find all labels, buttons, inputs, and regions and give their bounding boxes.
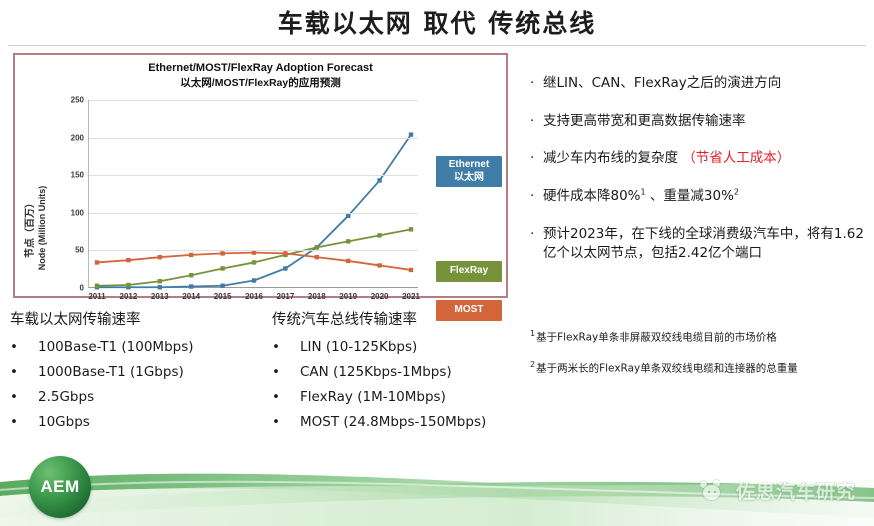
chart-point: [409, 268, 413, 272]
chart-y-tick: 250: [71, 96, 84, 105]
column-ethernet-speeds: 车载以太网传输速率 •100Base-T1 (100Mbps)•1000Base…: [10, 308, 260, 439]
chart-point: [126, 258, 130, 262]
footnote-text: 基于两米长的FlexRay单条双绞线电缆和连接器的总重量: [536, 363, 798, 375]
chart-point: [220, 284, 224, 288]
key-point-text: 硬件成本降80%1 、重量减30%2: [543, 187, 870, 207]
list-item-label: CAN (125Kbps-1Mbps): [300, 364, 452, 380]
page-title: 车载以太网 取代 传统总线: [0, 4, 874, 40]
chart-x-tick: 2016: [245, 292, 263, 301]
chart-point: [315, 255, 319, 259]
chart-gridline: [89, 213, 418, 214]
key-point-highlight: （节省人工成本）: [682, 150, 790, 166]
key-point-3: ·减少车内布线的复杂度 （节省人工成本）: [530, 149, 870, 169]
chart-point: [189, 284, 193, 288]
chart-point: [346, 214, 350, 218]
key-points-list: ·继LIN、CAN、FlexRay之后的演进方向·支持更高带宽和更高数据传输速率…: [530, 74, 870, 282]
y-axis-label-cn: 节点（百万）: [25, 198, 36, 258]
bullet-dot-icon: •: [10, 364, 38, 380]
column-ethernet-items: •100Base-T1 (100Mbps)•1000Base-T1 (1Gbps…: [10, 339, 260, 430]
list-item: •10Gbps: [10, 414, 260, 430]
list-item: •1000Base-T1 (1Gbps): [10, 364, 260, 380]
chart-point: [409, 227, 413, 231]
column-legacy-bus-speeds: 传统汽车总线传输速率 •LIN (10-125Kbps)•CAN (125Kbp…: [272, 308, 532, 439]
aem-logo: AEM: [29, 456, 91, 518]
list-item: •LIN (10-125Kbps): [272, 339, 532, 355]
chart-x-tick: 2012: [119, 292, 137, 301]
legend-ethernet-cn: 以太网: [442, 172, 496, 185]
chart-gridline: [89, 100, 418, 101]
list-item-label: FlexRay (1M-10Mbps): [300, 389, 446, 405]
list-item: •CAN (125Kbps-1Mbps): [272, 364, 532, 380]
chart-point: [158, 285, 162, 289]
bullet-dot-icon: ·: [530, 74, 543, 94]
chart-gridline: [89, 250, 418, 251]
list-item: •MOST (24.8Mbps-150Mbps): [272, 414, 532, 430]
key-point-text: 预计2023年，在下线的全球消费级汽车中，将有1.62亿个以太网节点，包括2.4…: [543, 225, 870, 264]
key-point-4: ·硬件成本降80%1 、重量减30%2: [530, 187, 870, 207]
list-item: •2.5Gbps: [10, 389, 260, 405]
bullet-dot-icon: ·: [530, 112, 543, 132]
chart-y-tick: 50: [75, 246, 84, 255]
list-item-label: 100Base-T1 (100Mbps): [38, 339, 194, 355]
aem-logo-text: AEM: [40, 477, 79, 497]
footnote-ref-1: 1: [641, 188, 646, 197]
list-item-label: 10Gbps: [38, 414, 90, 430]
bullet-dot-icon: ·: [530, 149, 543, 169]
footnote-text: 基于FlexRay单条非屏蔽双绞线电缆目前的市场价格: [536, 332, 777, 344]
footnote-ref-2: 2: [734, 188, 739, 197]
chart-point: [283, 251, 287, 255]
list-item: •FlexRay (1M-10Mbps): [272, 389, 532, 405]
chart-point: [252, 260, 256, 264]
chart-plot-area: 0501001502002502011201220132014201520162…: [88, 100, 418, 288]
column-ethernet-heading: 车载以太网传输速率: [10, 308, 260, 329]
chart-gridline: [89, 138, 418, 139]
chart-title-en: Ethernet/MOST/FlexRay Adoption Forecast: [15, 61, 506, 76]
chart-point: [220, 266, 224, 270]
chart-title-cn: 以太网/MOST/FlexRay的应用预测: [15, 76, 506, 90]
list-item-label: 2.5Gbps: [38, 389, 94, 405]
key-point-text: 支持更高带宽和更高数据传输速率: [543, 112, 870, 132]
legend-ethernet-en: Ethernet: [442, 159, 496, 172]
chart-point: [409, 132, 413, 136]
bullet-dot-icon: •: [10, 339, 38, 355]
bullet-dot-icon: •: [272, 414, 300, 430]
chart-point: [252, 278, 256, 282]
y-axis-label-en: Node (Million Units): [37, 186, 47, 271]
chart-x-tick: 2011: [88, 292, 105, 301]
chart-y-tick: 0: [80, 284, 84, 293]
chart-card: Ethernet/MOST/FlexRay Adoption Forecast …: [13, 53, 508, 298]
chart-gridline: [89, 175, 418, 176]
chart-x-tick: 2019: [339, 292, 357, 301]
list-item: •100Base-T1 (100Mbps): [10, 339, 260, 355]
chart-x-tick: 2018: [308, 292, 326, 301]
chart-y-tick: 100: [71, 208, 84, 217]
chart-point: [377, 263, 381, 267]
bullet-dot-icon: •: [272, 364, 300, 380]
chart-point: [315, 245, 319, 249]
chart-point: [346, 259, 350, 263]
chart-point: [220, 251, 224, 255]
title-divider: [8, 45, 866, 46]
key-point-text: 减少车内布线的复杂度 （节省人工成本）: [543, 149, 870, 169]
chart-point: [346, 239, 350, 243]
list-item-label: 1000Base-T1 (1Gbps): [38, 364, 184, 380]
list-item-label: LIN (10-125Kbps): [300, 339, 417, 355]
chart-point: [283, 266, 287, 270]
footnotes-list: 1基于FlexRay单条非屏蔽双绞线电缆目前的市场价格2基于两米长的FlexRa…: [530, 328, 874, 390]
chart-x-tick: 2020: [371, 292, 389, 301]
chart-point: [377, 233, 381, 237]
chart-x-tick: 2013: [151, 292, 169, 301]
bullet-dot-icon: ·: [530, 187, 543, 207]
bullet-dot-icon: •: [10, 414, 38, 430]
footnote-1: 1基于FlexRay单条非屏蔽双绞线电缆目前的市场价格: [530, 328, 874, 345]
key-point-5: ·预计2023年，在下线的全球消费级汽车中，将有1.62亿个以太网节点，包括2.…: [530, 225, 870, 264]
bullet-dot-icon: •: [272, 389, 300, 405]
watermark-mascot-icon: [699, 480, 729, 502]
key-point-2: ·支持更高带宽和更高数据传输速率: [530, 112, 870, 132]
footnote-2: 2基于两米长的FlexRay单条双绞线电缆和连接器的总重量: [530, 359, 874, 376]
list-item-label: MOST (24.8Mbps-150Mbps): [300, 414, 486, 430]
bullet-dot-icon: ·: [530, 225, 543, 264]
chart-point: [158, 279, 162, 283]
column-legacy-heading: 传统汽车总线传输速率: [272, 308, 532, 329]
chart-x-tick: 2017: [276, 292, 294, 301]
chart-y-tick: 150: [71, 171, 84, 180]
key-point-text: 继LIN、CAN、FlexRay之后的演进方向: [543, 74, 870, 94]
watermark-text: 佐思汽车研究: [736, 477, 856, 504]
bullet-dot-icon: •: [272, 339, 300, 355]
chart-x-tick: 2015: [214, 292, 232, 301]
chart-point: [377, 178, 381, 182]
bullet-dot-icon: •: [10, 389, 38, 405]
chart-line-flexray: [97, 229, 411, 285]
column-legacy-items: •LIN (10-125Kbps)•CAN (125Kbps-1Mbps)•Fl…: [272, 339, 532, 430]
chart-point: [189, 253, 193, 257]
watermark: 佐思汽车研究: [699, 477, 856, 504]
chart-x-tick: 2021: [402, 292, 420, 301]
chart-point: [158, 255, 162, 259]
chart-point: [95, 260, 99, 264]
chart-y-axis-label: 节点（百万） Node (Million Units): [25, 186, 49, 271]
legend-flexray[interactable]: FlexRay: [436, 261, 502, 282]
legend-ethernet[interactable]: Ethernet 以太网: [436, 156, 502, 187]
chart-y-tick: 200: [71, 133, 84, 142]
chart-series-lines: [89, 100, 419, 288]
slide-root: 车载以太网 取代 传统总线 Ethernet/MOST/FlexRay Adop…: [0, 0, 874, 526]
chart-point: [189, 273, 193, 277]
key-point-1: ·继LIN、CAN、FlexRay之后的演进方向: [530, 74, 870, 94]
chart-title: Ethernet/MOST/FlexRay Adoption Forecast …: [15, 61, 506, 90]
chart-point: [95, 284, 99, 288]
chart-x-tick: 2014: [182, 292, 200, 301]
chart-point: [126, 283, 130, 287]
